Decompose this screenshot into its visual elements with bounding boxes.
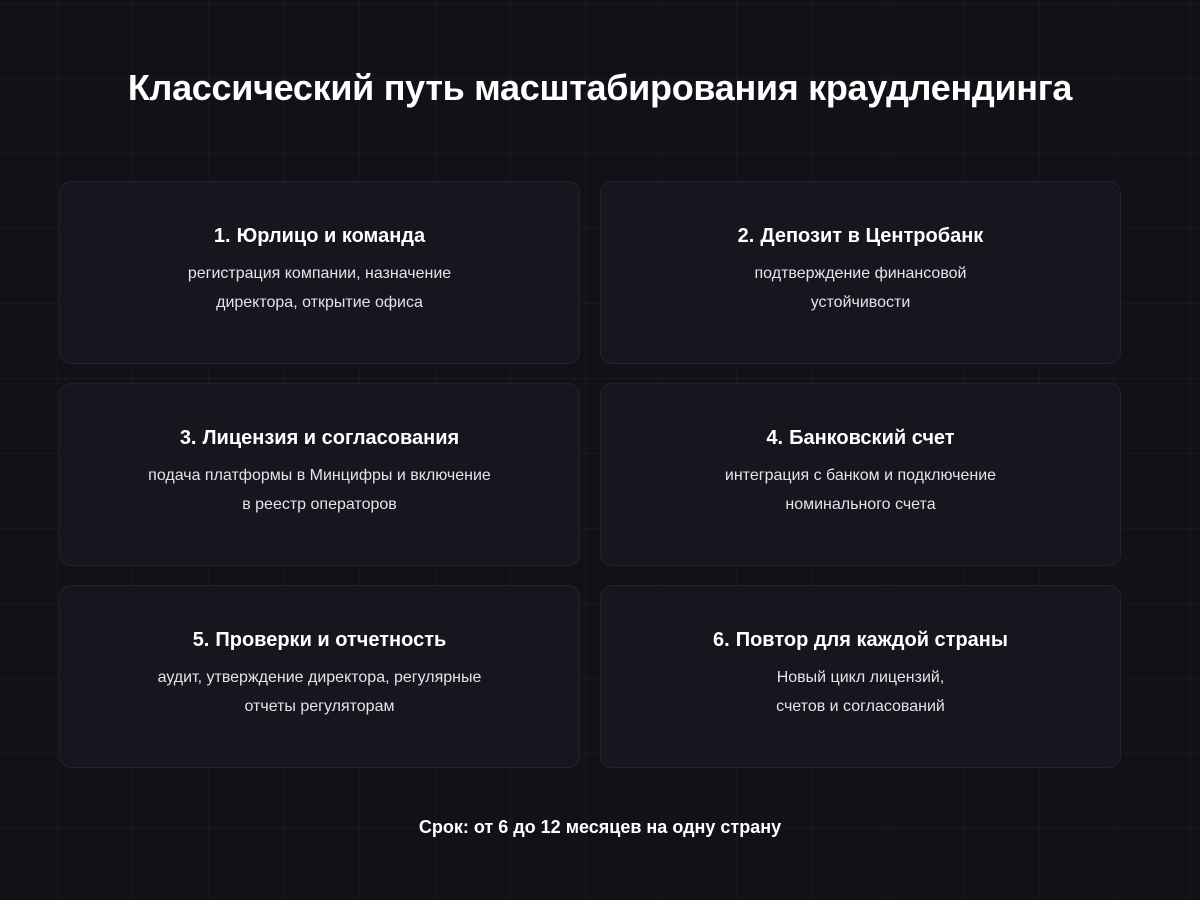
step-title: Депозит в Центробанк (760, 225, 983, 247)
slide-root: Классический путь масштабирования краудл… (0, 0, 1200, 900)
step-number: 6. (713, 629, 730, 651)
step-card-heading: 4.Банковский счет (766, 425, 954, 451)
step-card-2: 2.Депозит в Центробанк подтверждение фин… (600, 181, 1121, 364)
footer-note: Срок: от 6 до 12 месяцев на одну страну (0, 814, 1200, 840)
step-card-heading: 5.Проверки и отчетность (193, 627, 447, 653)
step-card-heading: 2.Депозит в Центробанк (738, 223, 984, 249)
step-description: интеграция с банком и подключение номина… (725, 461, 996, 519)
step-number: 3. (180, 427, 197, 449)
step-card-heading: 6.Повтор для каждой страны (713, 627, 1008, 653)
page-title: Классический путь масштабирования краудл… (0, 66, 1200, 110)
step-description: регистрация компании, назначение директо… (188, 259, 451, 317)
steps-card-grid: 1.Юрлицо и команда регистрация компании,… (59, 181, 1121, 768)
step-title: Юрлицо и команда (237, 225, 426, 247)
step-number: 4. (766, 427, 783, 449)
step-title: Повтор для каждой страны (736, 629, 1008, 651)
step-card-5: 5.Проверки и отчетность аудит, утвержден… (59, 585, 580, 768)
step-card-heading: 1.Юрлицо и команда (214, 223, 425, 249)
step-card-3: 3.Лицензия и согласования подача платфор… (59, 383, 580, 566)
step-title: Лицензия и согласования (203, 427, 460, 449)
step-number: 2. (738, 225, 755, 247)
step-title: Проверки и отчетность (215, 629, 446, 651)
step-card-1: 1.Юрлицо и команда регистрация компании,… (59, 181, 580, 364)
step-description: Новый цикл лицензий, счетов и согласован… (776, 663, 945, 721)
step-card-heading: 3.Лицензия и согласования (180, 425, 459, 451)
step-description: аудит, утверждение директора, регулярные… (158, 663, 482, 721)
step-description: подача платформы в Минцифры и включение … (148, 461, 491, 519)
step-number: 1. (214, 225, 231, 247)
step-card-4: 4.Банковский счет интеграция с банком и … (600, 383, 1121, 566)
step-card-6: 6.Повтор для каждой страны Новый цикл ли… (600, 585, 1121, 768)
step-description: подтверждение финансовой устойчивости (755, 259, 967, 317)
step-title: Банковский счет (789, 427, 955, 449)
step-number: 5. (193, 629, 210, 651)
